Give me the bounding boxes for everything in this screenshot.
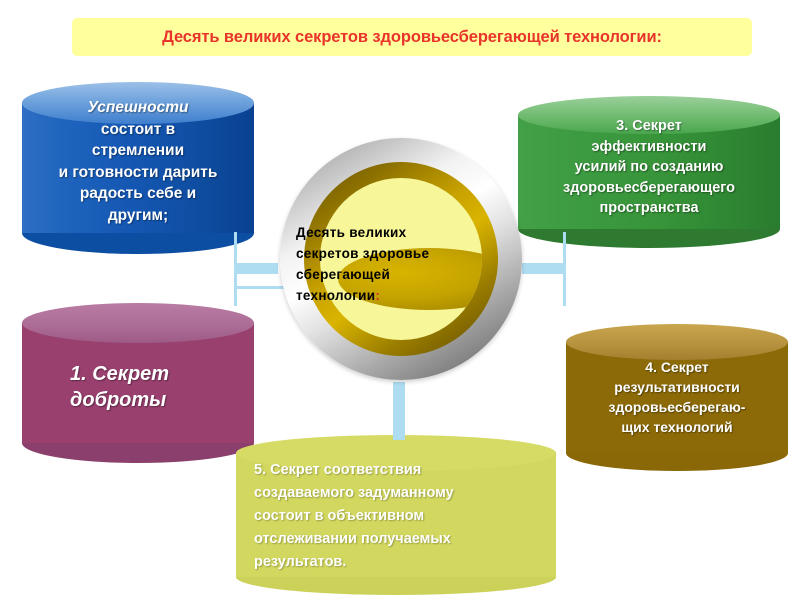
node-secret-5[interactable]: 5. Секрет соответствия создаваемого заду… [236,435,556,595]
node-uspeshnosti-first-line: Успешности [88,99,189,116]
center-disc-label: Десять великих секретов здоровье сберега… [296,222,508,306]
connector-right-bar [522,263,564,274]
page-title: Десять великих секретов здоровьесберегаю… [72,18,752,56]
connector-bottom-stem [393,382,405,440]
node-secret-4-label: 4. Секрет результативности здоровьесбере… [566,357,788,437]
cylinder-top-ellipse [22,303,254,343]
node-secret-5-label: 5. Секрет соответствия создаваемого заду… [236,459,556,574]
node-uspeshnosti[interactable]: Успешностисостоит в стремлении и готовно… [22,82,254,254]
center-disc-colon: : [375,288,380,303]
node-secret-1-label: 1. Секрет доброты [22,361,254,413]
node-secret-3[interactable]: 3. Секрет эффективности усилий по создан… [518,96,780,248]
center-disc-main-text: Десять великих секретов здоровье сберега… [296,225,429,303]
cylinder-top-ellipse [566,324,788,360]
slide-canvas: Десять великих секретов здоровьесберегаю… [0,0,800,600]
connector-left-bar [236,263,278,274]
node-secret-3-label: 3. Секрет эффективности усилий по создан… [518,116,780,219]
node-uspeshnosti-rest: состоит в стремлении и готовности дарить… [59,121,218,224]
node-secret-1[interactable]: 1. Секрет доброты [22,303,254,463]
node-uspeshnosti-label: Успешностисостоит в стремлении и готовно… [22,97,254,226]
center-disc[interactable]: Десять великих секретов здоровье сберега… [280,138,522,380]
node-secret-4[interactable]: 4. Секрет результативности здоровьесбере… [566,324,788,471]
